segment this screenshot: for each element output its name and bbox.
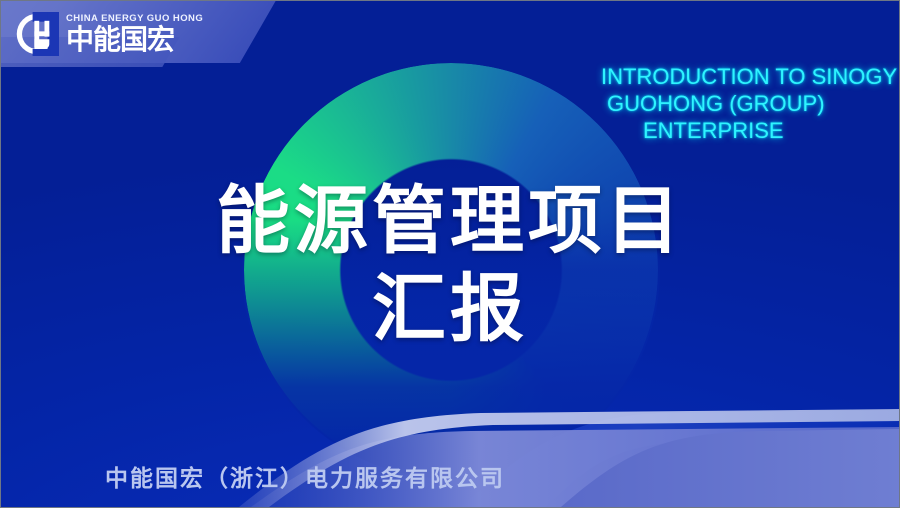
logo-wordmark: CHINA ENERGY GUO HONG 中能国宏 — [66, 14, 203, 55]
english-heading-line-3: ENTERPRISE — [601, 117, 900, 144]
english-heading-line-1: INTRODUCTION TO SINOGY — [601, 63, 900, 90]
brand-logo[interactable]: CHINA ENERGY GUO HONG 中能国宏 — [15, 12, 203, 56]
logo-chinese-name: 中能国宏 — [66, 26, 203, 54]
slide-title-line-2: 汇报 — [1, 267, 899, 351]
footer-company-name: 中能国宏（浙江）电力服务有限公司 — [105, 459, 505, 493]
china-energy-guohong-logo-icon — [15, 12, 59, 56]
presentation-slide: CHINA ENERGY GUO HONG 中能国宏 INTRODUCTION … — [0, 0, 900, 508]
english-heading-line-2: GUOHONG (GROUP) — [601, 90, 900, 117]
slide-title-line-1: 能源管理项目 — [1, 179, 899, 263]
logo-english-name: CHINA ENERGY GUO HONG — [66, 14, 203, 24]
slide-title: 能源管理项目 汇报 — [1, 179, 899, 351]
english-subtitle-heading: INTRODUCTION TO SINOGY GUOHONG (GROUP) E… — [601, 63, 900, 144]
